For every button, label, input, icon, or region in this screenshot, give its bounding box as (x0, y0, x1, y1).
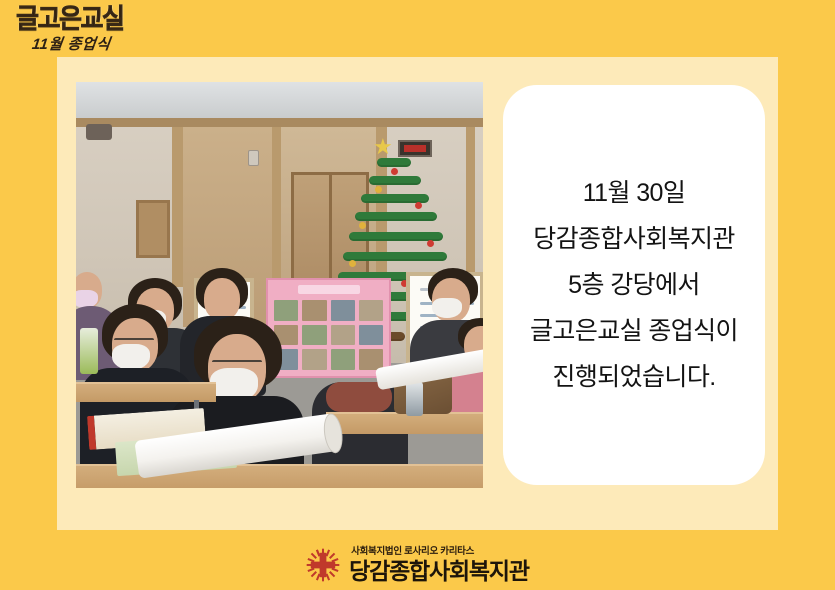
poster-canvas: 글고은교실 11월 종업식 (0, 0, 835, 590)
info-line-4: 글고은교실 종업식이 (530, 308, 738, 354)
photo-scene (76, 82, 483, 488)
beverage-can (406, 382, 423, 416)
event-photo (76, 82, 483, 488)
info-line-2: 당감종합사회복지관 (533, 216, 735, 262)
info-line-1: 11월 30일 (583, 170, 686, 216)
desk-mid (326, 412, 483, 434)
sensor-icon (248, 150, 259, 166)
pink-poster-board (266, 278, 391, 378)
info-panel: 11월 30일 당감종합사회복지관 5층 강당에서 글고은교실 종업식이 진행되… (503, 85, 765, 485)
poster-photo-grid (274, 300, 383, 370)
speaker-icon (86, 124, 112, 140)
beverage-bottle (80, 328, 98, 374)
program-subtitle: 11월 종업식 (31, 37, 185, 52)
program-title: 글고은교실 (14, 4, 184, 33)
poster-board-title (298, 285, 360, 294)
info-line-3: 5층 강당에서 (568, 262, 700, 308)
footer-org-name: 당감종합사회복지관 (349, 560, 529, 583)
footer-logo: 사회복지법인 로사리오 카리타스 당감종합사회복지관 (0, 540, 835, 590)
info-line-5: 진행되었습니다. (552, 354, 715, 400)
caritas-cross-icon (306, 548, 340, 582)
footer-text-block: 사회복지법인 로사리오 카리타스 당감종합사회복지관 (349, 547, 529, 583)
wall-beam-horizontal (76, 118, 483, 127)
footer-org-corporation: 사회복지법인 로사리오 카리타스 (351, 547, 529, 557)
poster-header: 글고은교실 11월 종업식 (14, 4, 184, 60)
ceiling (76, 82, 483, 122)
wall-recess (136, 200, 170, 258)
content-card: 11월 30일 당감종합사회복지관 5층 강당에서 글고은교실 종업식이 진행되… (57, 57, 778, 530)
desk-left (76, 382, 216, 402)
wall-beam-1 (172, 127, 183, 287)
